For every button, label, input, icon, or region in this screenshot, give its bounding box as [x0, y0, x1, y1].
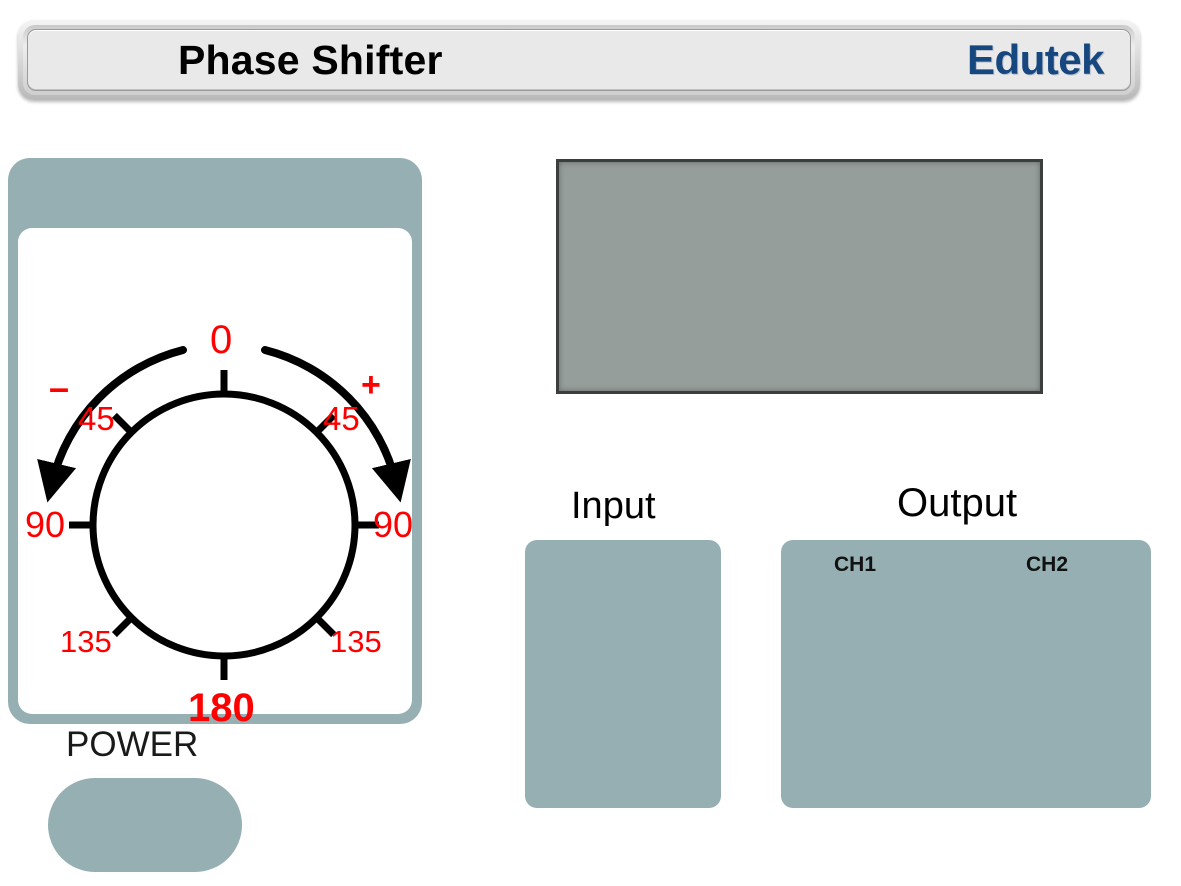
- page-title: Phase Shifter: [178, 40, 443, 81]
- tick-plus-45: [317, 415, 334, 432]
- tick-minus-135: [114, 618, 131, 635]
- output-jack-panel[interactable]: [781, 540, 1151, 808]
- header-face: Phase Shifter Edutek: [27, 29, 1131, 91]
- dial-knob-circle[interactable]: [93, 394, 355, 656]
- ch1-label: CH1: [834, 554, 876, 575]
- output-label: Output: [897, 483, 1017, 523]
- tick-minus-45: [114, 415, 131, 432]
- power-button[interactable]: [48, 778, 242, 872]
- phase-dial-graphic[interactable]: [18, 228, 412, 714]
- waveform-display-screen[interactable]: [556, 159, 1043, 394]
- dial-panel: 0 – 45 90 135 180 135 90 45 +: [8, 158, 422, 724]
- header-bezel-inner: Phase Shifter Edutek: [23, 25, 1135, 95]
- brand-logo: Edutek: [967, 36, 1104, 84]
- input-label: Input: [571, 487, 656, 525]
- input-jack-panel[interactable]: [525, 540, 721, 808]
- dial-tick-marks: [69, 370, 379, 680]
- header-bezel: Phase Shifter Edutek: [18, 20, 1140, 100]
- dial-face-card: 0 – 45 90 135 180 135 90 45 +: [18, 228, 412, 714]
- power-label: POWER: [66, 727, 198, 762]
- ch2-label: CH2: [1026, 554, 1068, 575]
- tick-plus-135: [317, 618, 334, 635]
